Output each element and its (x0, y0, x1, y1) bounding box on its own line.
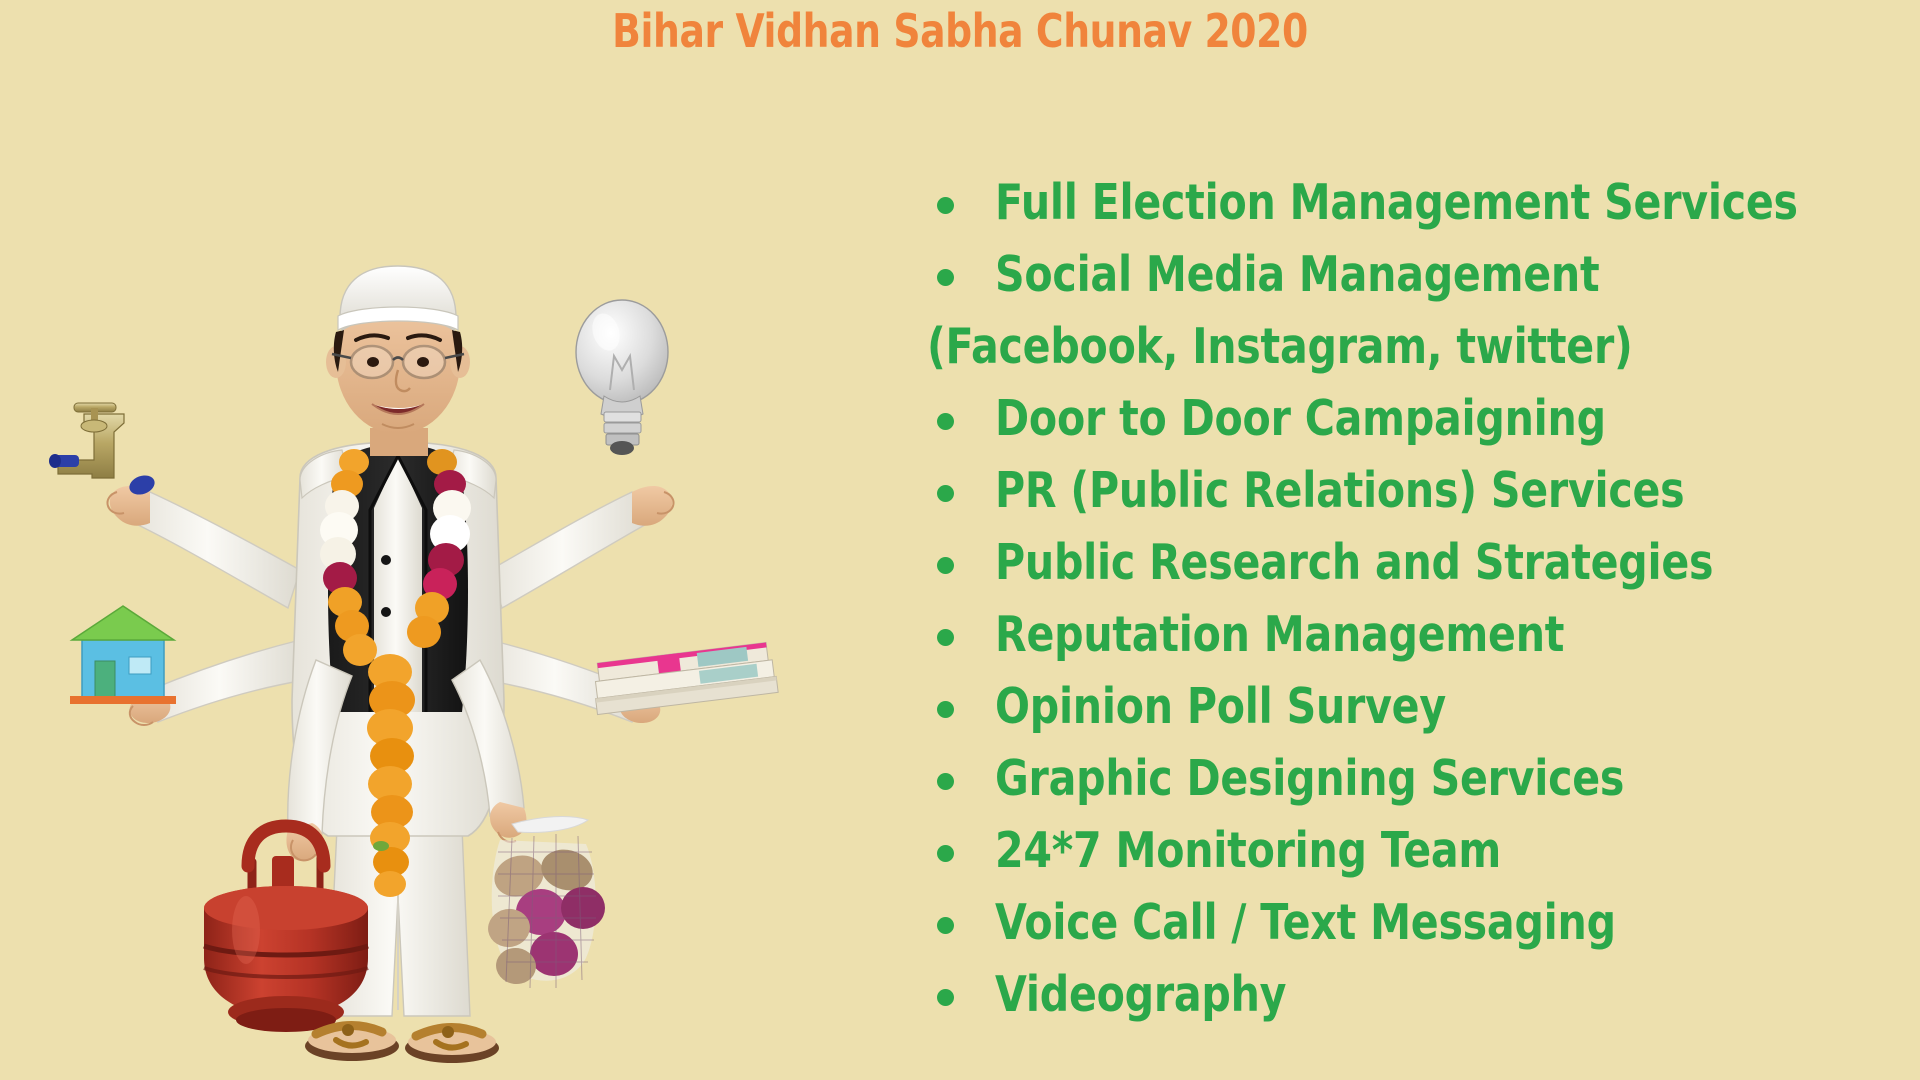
service-label: Social Media Management (995, 250, 1599, 299)
bullet-icon (905, 926, 995, 944)
bullet-icon (905, 638, 995, 656)
arm-upper-left (107, 486, 300, 608)
list-item[interactable]: Social Media Management (905, 250, 1905, 322)
bullet-icon (905, 422, 995, 440)
bullet-icon (905, 206, 995, 224)
service-label: 24*7 Monitoring Team (995, 826, 1501, 875)
vegetable-bag-icon (485, 817, 605, 988)
page-title: Bihar Vidhan Sabha Chunav 2020 (173, 4, 1747, 58)
service-label: PR (Public Relations) Services (995, 466, 1684, 515)
service-label: Videography (995, 970, 1286, 1019)
service-label: (Facebook, Instagram, twitter) (927, 322, 1633, 371)
list-item[interactable]: Voice Call / Text Messaging (905, 898, 1905, 970)
arm-upper-right (490, 486, 674, 608)
sandals-icon (305, 1024, 499, 1063)
list-item[interactable]: 24*7 Monitoring Team (905, 826, 1905, 898)
bullet-icon (905, 494, 995, 512)
bullet-icon (905, 278, 995, 296)
bullet-icon (905, 566, 995, 584)
list-item[interactable]: Full Election Management Services (905, 178, 1905, 250)
service-label: Full Election Management Services (995, 178, 1798, 227)
bullet-icon (905, 782, 995, 800)
service-label: Voice Call / Text Messaging (995, 898, 1616, 947)
toy-house-icon (70, 606, 176, 704)
list-item[interactable]: Graphic Designing Services (905, 754, 1905, 826)
service-label: Reputation Management (995, 610, 1564, 659)
list-item[interactable]: Opinion Poll Survey (905, 682, 1905, 754)
currency-notes-icon (591, 642, 778, 715)
light-bulb-icon (576, 300, 668, 455)
list-item[interactable]: Door to Door Campaigning (905, 394, 1905, 466)
bullet-icon (905, 998, 995, 1016)
figure-head (326, 266, 470, 456)
list-item-continuation[interactable]: (Facebook, Instagram, twitter) (905, 322, 1905, 394)
bullet-icon (905, 854, 995, 872)
service-label: Graphic Designing Services (995, 754, 1624, 803)
candidate-photo (0, 140, 790, 1080)
services-list: Full Election Management Services Social… (905, 178, 1905, 1042)
service-label: Opinion Poll Survey (995, 682, 1446, 731)
service-label: Public Research and Strategies (995, 538, 1713, 587)
list-item[interactable]: PR (Public Relations) Services (905, 466, 1905, 538)
list-item[interactable]: Videography (905, 970, 1905, 1042)
poster-canvas: Bihar Vidhan Sabha Chunav 2020 (0, 0, 1920, 1080)
list-item[interactable]: Public Research and Strategies (905, 538, 1905, 610)
service-label: Door to Door Campaigning (995, 394, 1606, 443)
list-item[interactable]: Reputation Management (905, 610, 1905, 682)
water-tap-icon (49, 200, 157, 498)
bullet-icon (905, 710, 995, 728)
